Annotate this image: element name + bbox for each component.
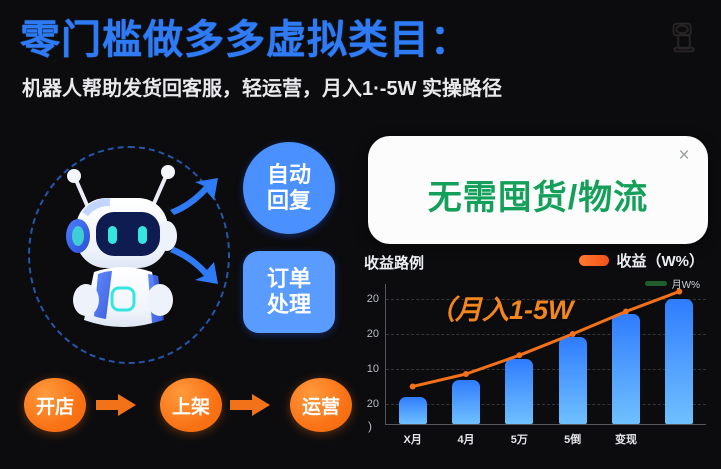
- chip-order-processing-line1: 订单: [267, 266, 311, 292]
- highlight-card-text: 无需囤货/物流: [368, 170, 708, 219]
- page-subtitle: 机器人帮助发货回客服，轻运营，月入1·-5W 实操路径: [22, 76, 502, 102]
- chart-title: 收益路例: [364, 252, 424, 273]
- x-tick-label: 4月: [457, 431, 474, 447]
- x-tick-label: 5倒: [564, 431, 581, 447]
- y-tick-label: 20: [367, 398, 379, 410]
- chart-annotation: （月入1-5W: [428, 288, 574, 327]
- arrow-right-icon: [96, 394, 136, 416]
- mini-legend-label: 月W%: [672, 276, 700, 291]
- camera-watermark-icon: [661, 16, 707, 62]
- flow-diagram: 开店 上架 运营: [18, 378, 354, 432]
- arrow-down-right-icon: [168, 246, 220, 286]
- flow-node-operations[interactable]: 运营: [290, 378, 352, 432]
- poster-canvas: 零门槛做多多虚拟类目： 机器人帮助发货回客服，轻运营，月入1·-5W 实操路径: [0, 0, 721, 469]
- highlight-card: × 无需囤货/物流: [368, 136, 708, 244]
- legend-label: 收益（W%）: [617, 250, 705, 271]
- flow-node-open-store[interactable]: 开店: [24, 378, 86, 432]
- arrow-right-icon: [230, 394, 270, 416]
- x-tick-label: X月: [403, 431, 421, 447]
- chip-auto-reply-line2: 回复: [267, 188, 311, 214]
- close-icon[interactable]: ×: [674, 146, 694, 166]
- flow-node-list-product[interactable]: 上架: [160, 378, 222, 432]
- robot-illustration: [18, 138, 233, 370]
- chip-order-processing-line2: 处理: [267, 292, 311, 318]
- y-tick-label: 20: [367, 293, 379, 305]
- chip-auto-reply[interactable]: 自动 回复: [243, 142, 335, 234]
- mini-legend-swatch-icon: [645, 281, 667, 286]
- chip-auto-reply-line1: 自动: [267, 162, 311, 188]
- arrow-up-right-icon: [168, 176, 220, 216]
- chart-panel: 收益路例 收益（W%） ) 20201020 X月4月5万5倒变现 （月入1-5…: [356, 248, 716, 463]
- chip-order-processing[interactable]: 订单 处理: [243, 251, 335, 333]
- chart-mini-legend: 月W%: [645, 276, 700, 291]
- y-tick-label: 10: [367, 363, 379, 375]
- y-axis-corner-label: ): [368, 419, 372, 433]
- legend-swatch-icon: [579, 255, 609, 266]
- x-tick-label: 变现: [615, 431, 637, 447]
- y-tick-label: 20: [367, 328, 379, 340]
- x-tick-label: 5万: [511, 431, 528, 447]
- x-axis: [385, 424, 706, 425]
- chart-plot-area: ) 20201020 X月4月5万5倒变现 （月入1-5W 月W%: [386, 284, 706, 424]
- page-title: 零门槛做多多虚拟类目：: [20, 18, 471, 62]
- chart-legend: 收益（W%）: [579, 250, 705, 271]
